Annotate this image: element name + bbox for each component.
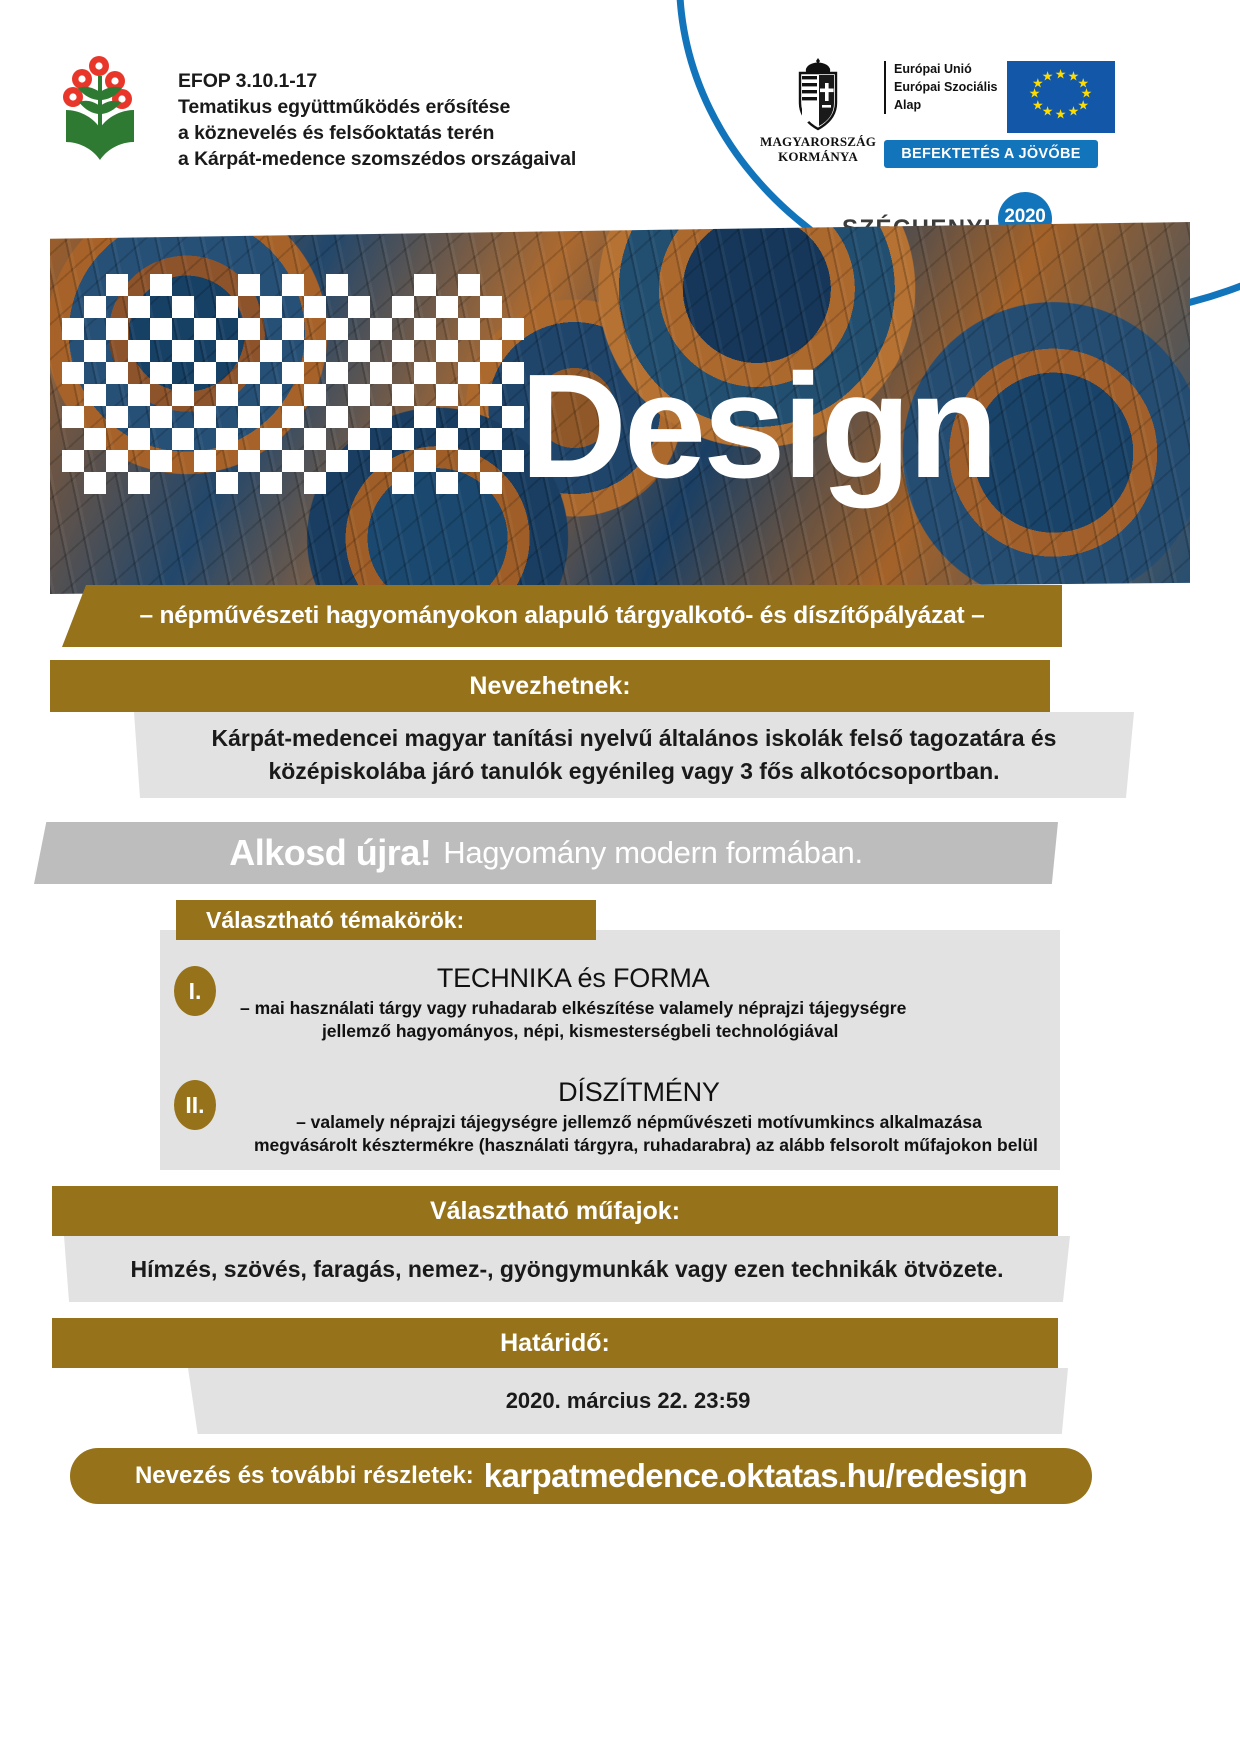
deadline-heading-text: Határidő: (500, 1329, 610, 1358)
slogan-soft-text: Hagyomány modern formában. (443, 835, 863, 871)
eligibility-body-panel: Kárpát-medencei magyar tanítási nyelvű á… (134, 712, 1134, 798)
theme-item-1: I. TECHNIKA és FORMA – mai használati tá… (174, 964, 906, 1044)
hero-subtitle-band: – népművészeti hagyományokon alapuló tár… (62, 585, 1062, 647)
theme-desc-1-line-2: jellemző hagyományos, népi, kismesterség… (240, 1020, 906, 1044)
efop-line-2: a köznevelés és felsőoktatás terén (178, 121, 576, 147)
efop-line-1: Tematikus együttműködés erősítése (178, 95, 576, 121)
efop-line-3: a Kárpát-medence szomszédos országaival (178, 147, 576, 173)
eu-line-1: Európai Unió (894, 61, 998, 79)
deadline-body-text: 2020. március 22. 23:59 (506, 1385, 751, 1416)
genres-heading-bar: Választható műfajok: (52, 1186, 1058, 1236)
government-eu-logo-cluster: MAGYARORSZÁG KORMÁNYA Európai Unió Európ… (762, 55, 1115, 168)
deadline-heading-bar: Határidő: (52, 1318, 1058, 1368)
efop-header: EFOP 3.10.1-17 Tematikus együttműködés e… (60, 52, 576, 173)
themes-heading-bar: Választható témakörök: (176, 900, 596, 940)
cta-label: Nevezés és további részletek: (135, 1462, 474, 1490)
efop-code: EFOP 3.10.1-17 (178, 69, 576, 95)
hero-subtitle-text: – népművészeti hagyományokon alapuló tár… (139, 602, 984, 630)
hero-banner: Design (50, 222, 1190, 594)
themes-heading-text: Választható témakörök: (206, 907, 464, 934)
gov-label-line1: MAGYARORSZÁG (760, 135, 876, 150)
eu-flag-icon: ★ ★ ★ ★ ★ ★ ★ ★ ★ ★ ★ ★ (1007, 61, 1115, 133)
theme-title-2: DÍSZÍTMÉNY (240, 1078, 1038, 1108)
coat-of-arms-label: MAGYARORSZÁG KORMÁNYA (760, 135, 876, 164)
eligibility-heading-text: Nevezhetnek: (469, 672, 630, 701)
coat-of-arms-icon (789, 55, 847, 133)
eu-line-3: Alap (894, 97, 998, 115)
theme-desc-2-line-2: megvásárolt késztermékre (használati tár… (240, 1134, 1038, 1158)
theme-item-2: II. DÍSZÍTMÉNY – valamely néprajzi tájeg… (174, 1078, 1038, 1158)
genres-heading-text: Választható műfajok: (430, 1197, 680, 1226)
eu-funding-logo: Európai Unió Európai Szociális Alap ★ ★ … (884, 55, 1115, 168)
invest-slogan-badge: BEFEKTETÉS A JÖVŐBE (884, 140, 1098, 168)
theme-numeral-2: II. (174, 1080, 216, 1130)
slogan-band: Alkosd újra! Hagyomány modern formában. (34, 822, 1058, 884)
eu-fund-text: Európai Unió Európai Szociális Alap (884, 61, 998, 114)
theme-desc-1-line-1: – mai használati tárgy vagy ruhadarab el… (240, 997, 906, 1021)
deadline-body-panel: 2020. március 22. 23:59 (188, 1368, 1068, 1434)
theme-desc-2-line-1: – valamely néprajzi tájegységre jellemző… (240, 1111, 1038, 1135)
design-wordmark: Design (520, 362, 995, 492)
themes-panel: I. TECHNIKA és FORMA – mai használati tá… (160, 930, 1060, 1170)
eu-line-2: Európai Szociális (894, 79, 998, 97)
efop-title-block: EFOP 3.10.1-17 Tematikus együttműködés e… (178, 52, 576, 173)
genres-body-text: Hímzés, szövés, faragás, nemez-, gyöngym… (130, 1253, 1003, 1286)
efop-flower-book-icon (60, 52, 156, 162)
cta-url-pill[interactable]: Nevezés és további részletek: karpatmede… (70, 1448, 1092, 1504)
hungary-coat-of-arms: MAGYARORSZÁG KORMÁNYA (762, 55, 874, 164)
eligibility-heading-bar: Nevezhetnek: (50, 660, 1050, 712)
theme-numeral-1: I. (174, 966, 216, 1016)
gov-label-line2: KORMÁNYA (760, 150, 876, 165)
szechenyi-year: 2020 (998, 206, 1052, 228)
cta-url[interactable]: karpatmedence.oktatas.hu/redesign (484, 1457, 1027, 1495)
theme-title-1: TECHNIKA és FORMA (240, 964, 906, 994)
pixelated-re-logotype (62, 274, 532, 504)
poster-canvas: EFOP 3.10.1-17 Tematikus együttműködés e… (0, 0, 1240, 1754)
slogan-strong-text: Alkosd újra! (229, 832, 431, 874)
eligibility-body-text: Kárpát-medencei magyar tanítási nyelvű á… (134, 722, 1134, 787)
genres-body-panel: Hímzés, szövés, faragás, nemez-, gyöngym… (64, 1236, 1070, 1302)
